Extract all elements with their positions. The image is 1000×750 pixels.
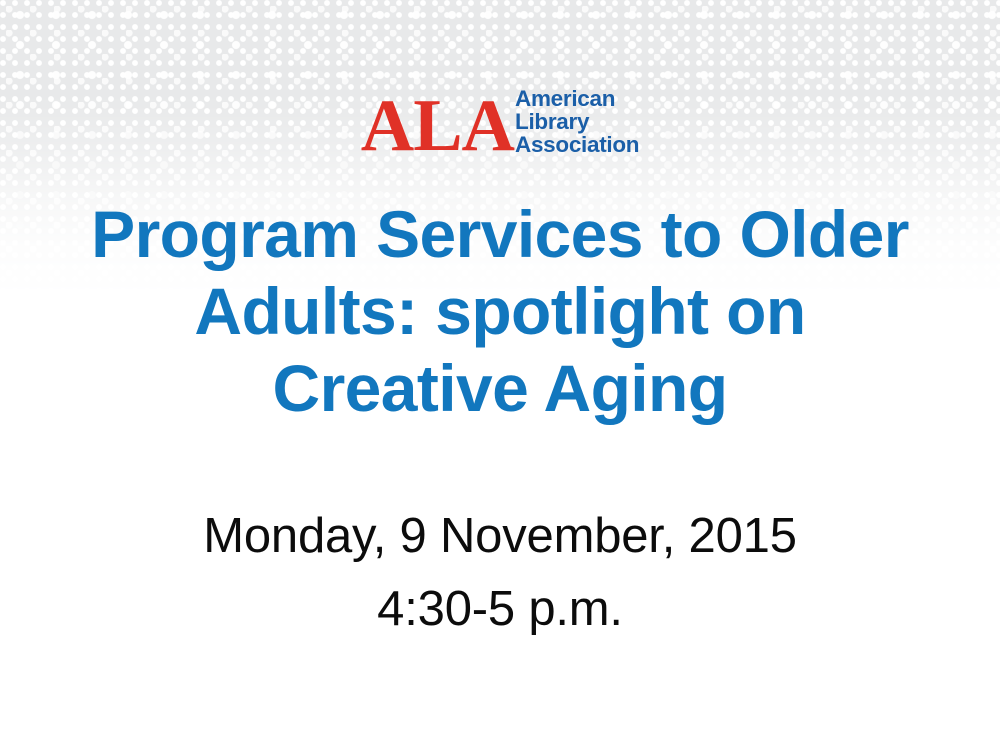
ala-logo: ALA American Library Association: [0, 88, 1000, 159]
slide-subtitle-date: Monday, 9 November, 2015: [50, 500, 950, 573]
ala-logo-inner: ALA American Library Association: [361, 88, 639, 159]
slide-subtitle-time: 4:30-5 p.m.: [50, 573, 950, 646]
ala-word-american: American: [515, 88, 639, 111]
ala-logo-wordmark: American Library Association: [515, 88, 639, 159]
presentation-slide: ALA American Library Association Program…: [0, 0, 1000, 750]
slide-title-line-3: Creative Aging: [50, 350, 950, 427]
slide-title: Program Services to Older Adults: spotli…: [50, 196, 950, 428]
slide-title-line-2: Adults: spotlight on: [50, 273, 950, 350]
ala-word-library: Library: [515, 111, 639, 134]
slide-subtitle: Monday, 9 November, 2015 4:30-5 p.m.: [50, 500, 950, 646]
ala-acronym-text: ALA: [361, 95, 514, 159]
ala-word-association: Association: [515, 134, 639, 157]
slide-title-line-1: Program Services to Older: [50, 196, 950, 273]
